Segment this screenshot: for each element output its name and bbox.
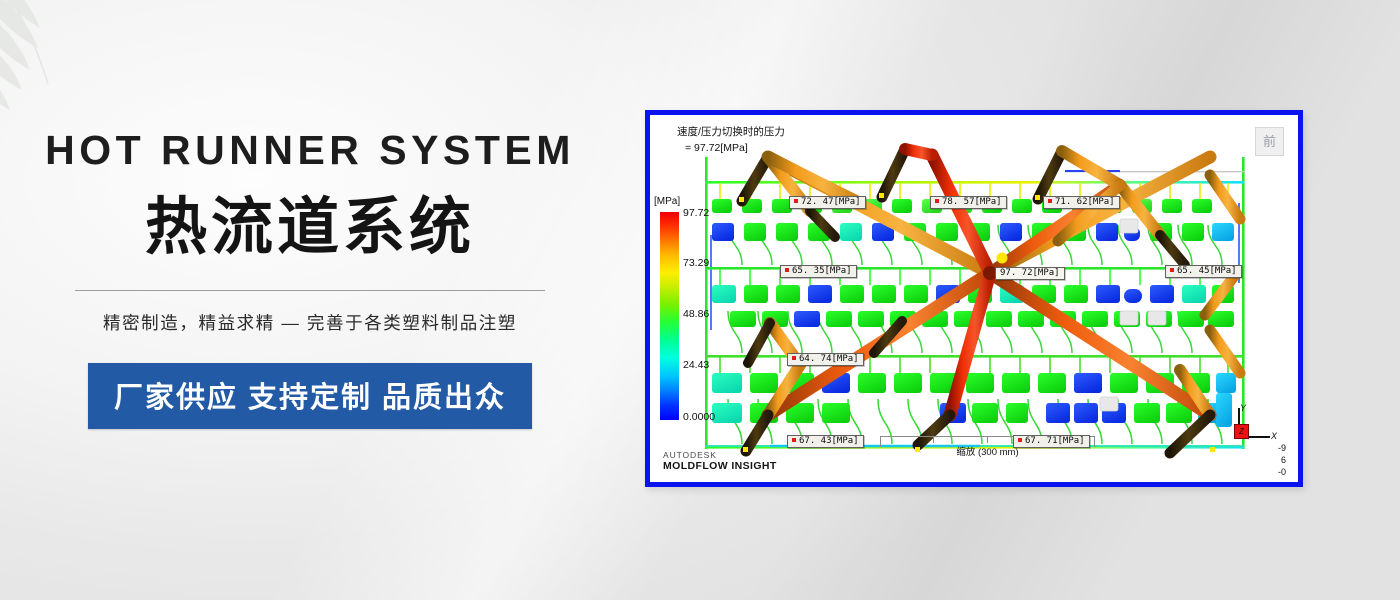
- pressure-callout[interactable]: 65. 35[MPa]: [780, 265, 857, 278]
- callout-marker-icon: [1018, 438, 1022, 442]
- pressure-callout[interactable]: 65. 45[MPa]: [1165, 265, 1242, 278]
- brand-autodesk: AUTODESK: [663, 450, 777, 460]
- callout-label: 78. 57[MPa]: [942, 197, 1002, 207]
- callout-label: 64. 74[MPa]: [799, 354, 859, 364]
- axis-number-0: -9: [1278, 442, 1286, 454]
- callout-marker-icon: [792, 356, 796, 360]
- callout-marker-icon: [1048, 199, 1052, 203]
- pressure-callout[interactable]: 72. 47[MPa]: [789, 196, 866, 209]
- moldflow-canvas: 速度/压力切换时的压力 = 97.72[MPa] 前 [MPa] 97.72 7…: [650, 115, 1298, 482]
- panel-title-line1: 速度/压力切换时的压力: [677, 125, 785, 141]
- colorbar-tick-3: 24.43: [683, 359, 709, 371]
- pressure-callout[interactable]: 78. 57[MPa]: [930, 196, 1007, 209]
- axis-z-icon: Z: [1234, 424, 1249, 439]
- pressure-callout[interactable]: 71. 62[MPa]: [1043, 196, 1120, 209]
- banner-stage: HOT RUNNER SYSTEM 热流道系统 精密制造，精益求精 — 完善于各…: [0, 0, 1400, 600]
- panel-title-line2: = 97.72[MPa]: [677, 141, 785, 157]
- callout-label: 65. 45[MPa]: [1177, 266, 1237, 276]
- moldflow-result-panel: 速度/压力切换时的压力 = 97.72[MPa] 前 [MPa] 97.72 7…: [645, 110, 1303, 487]
- scale-bar-tick: [933, 436, 934, 443]
- pressure-callout-max[interactable]: 97. 72[MPa]: [995, 267, 1065, 280]
- pressure-callout[interactable]: 67. 43[MPa]: [787, 435, 864, 448]
- headline-english: HOT RUNNER SYSTEM: [0, 128, 620, 173]
- scale-bar-tick: [987, 436, 988, 443]
- divider: [75, 290, 545, 291]
- autodesk-brand: AUTODESK MOLDFLOW INSIGHT: [663, 450, 777, 472]
- callout-marker-icon: [935, 199, 939, 203]
- axis-number-1: 6: [1278, 454, 1286, 466]
- callout-marker-icon: [1170, 268, 1174, 272]
- pressure-result-plot: [650, 115, 1298, 482]
- pressure-callout[interactable]: 67. 71[MPa]: [1013, 435, 1090, 448]
- callout-label: 65. 35[MPa]: [792, 266, 852, 276]
- colorbar-tick-2: 48.86: [683, 308, 709, 320]
- axis-coordinates: -9 6 -0: [1278, 442, 1286, 478]
- colorbar-tick-0: 97.72: [683, 207, 709, 219]
- callout-marker-icon: [785, 268, 789, 272]
- axis-triad: Z Y X -9 6 -0: [1222, 402, 1286, 476]
- cta-button[interactable]: 厂家供应 支持定制 品质出众: [88, 363, 532, 429]
- axis-y-label: Y: [1240, 403, 1246, 413]
- front-view-button[interactable]: 前: [1255, 127, 1284, 156]
- callout-label: 71. 62[MPa]: [1055, 197, 1115, 207]
- pressure-colorbar: [659, 211, 680, 421]
- colorbar-tick-4: 0.0000: [683, 411, 715, 423]
- banner-text-column: HOT RUNNER SYSTEM 热流道系统 精密制造，精益求精 — 完善于各…: [0, 128, 620, 429]
- callout-label: 97. 72[MPa]: [1000, 268, 1060, 278]
- axis-number-2: -0: [1278, 466, 1286, 478]
- brand-moldflow-insight: MOLDFLOW INSIGHT: [663, 460, 777, 472]
- pressure-callout[interactable]: 64. 74[MPa]: [787, 353, 864, 366]
- callout-label: 67. 43[MPa]: [799, 436, 859, 446]
- panel-title: 速度/压力切换时的压力 = 97.72[MPa]: [677, 125, 785, 157]
- legend-unit-label: [MPa]: [654, 196, 680, 207]
- headline-chinese: 热流道系统: [0, 193, 620, 262]
- colorbar-tick-1: 73.29: [683, 257, 709, 269]
- callout-label: 72. 47[MPa]: [801, 197, 861, 207]
- callout-marker-icon: [794, 199, 798, 203]
- axis-x-label: X: [1271, 431, 1277, 441]
- banner-subtitle: 精密制造，精益求精 — 完善于各类塑料制品注塑: [0, 310, 620, 335]
- callout-marker-icon: [792, 438, 796, 442]
- callout-label: 67. 71[MPa]: [1025, 436, 1085, 446]
